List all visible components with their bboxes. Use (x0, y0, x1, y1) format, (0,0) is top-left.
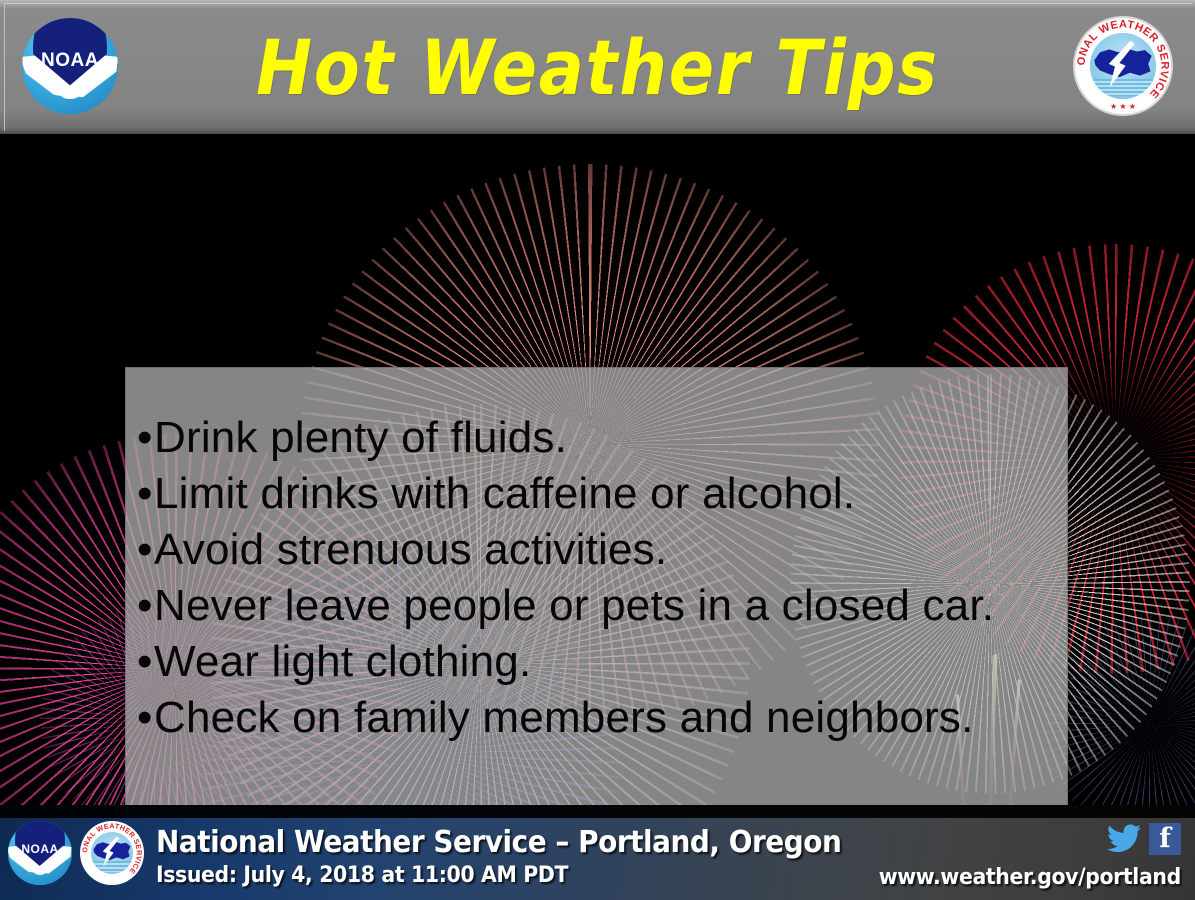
nws-emblem-inner (91, 832, 133, 874)
twitter-icon[interactable] (1107, 824, 1141, 854)
tip-text: Never leave people or pets in a closed c… (154, 581, 994, 630)
list-item: •Avoid strenuous activities. (137, 522, 1057, 578)
tip-text: Avoid strenuous activities. (154, 525, 667, 574)
tip-text: Drink plenty of fluids. (154, 413, 567, 462)
facebook-icon[interactable]: f (1149, 823, 1181, 855)
bullet-icon: • (137, 578, 154, 634)
nws-logo-icon-footer: NATIONAL WEATHER SERVICE (80, 821, 144, 885)
page-title: Hot Weather Tips (72, 0, 1124, 134)
tip-text: Check on family members and neighbors. (154, 693, 974, 742)
nws-water-lines (91, 861, 133, 872)
tip-text: Wear light clothing. (154, 637, 531, 686)
social-links: f (1107, 823, 1181, 855)
footer-office-name: National Weather Service – Portland, Ore… (156, 825, 841, 860)
fireworks-background-photo: •Drink plenty of fluids. •Limit drinks w… (0, 134, 1195, 805)
tips-panel: •Drink plenty of fluids. •Limit drinks w… (125, 367, 1068, 805)
bullet-icon: • (137, 410, 154, 466)
list-item: •Wear light clothing. (137, 634, 1057, 690)
tips-list: •Drink plenty of fluids. •Limit drinks w… (137, 410, 1057, 746)
noaa-beak-shape (34, 867, 47, 875)
tip-text: Limit drinks with caffeine or alcohol. (154, 469, 855, 518)
footer-website-url[interactable]: www.weather.gov/portland (879, 865, 1181, 890)
noaa-logo-icon-footer: NOAA (8, 821, 72, 885)
header-bar: NOAA NATIONAL WEATHER SERVICE ★ ★ ★ Hot … (0, 0, 1195, 134)
footer-issued-time: Issued: July 4, 2018 at 11:00 AM PDT (156, 863, 568, 888)
list-item: •Check on family members and neighbors. (137, 690, 1057, 746)
noaa-logo-label: NOAA (8, 843, 72, 855)
list-item: •Drink plenty of fluids. (137, 410, 1057, 466)
list-item: •Limit drinks with caffeine or alcohol. (137, 466, 1057, 522)
footer-bar: NOAA NATIONAL WEATHER SERVICE National W… (0, 805, 1195, 900)
bullet-icon: • (137, 690, 154, 746)
bullet-icon: • (137, 634, 154, 690)
list-item: •Never leave people or pets in a closed … (137, 578, 1057, 634)
weather-graphic-slide: NOAA NATIONAL WEATHER SERVICE ★ ★ ★ Hot … (0, 0, 1195, 900)
bullet-icon: • (137, 522, 154, 578)
bullet-icon: • (137, 466, 154, 522)
footer-divider (0, 805, 1195, 818)
